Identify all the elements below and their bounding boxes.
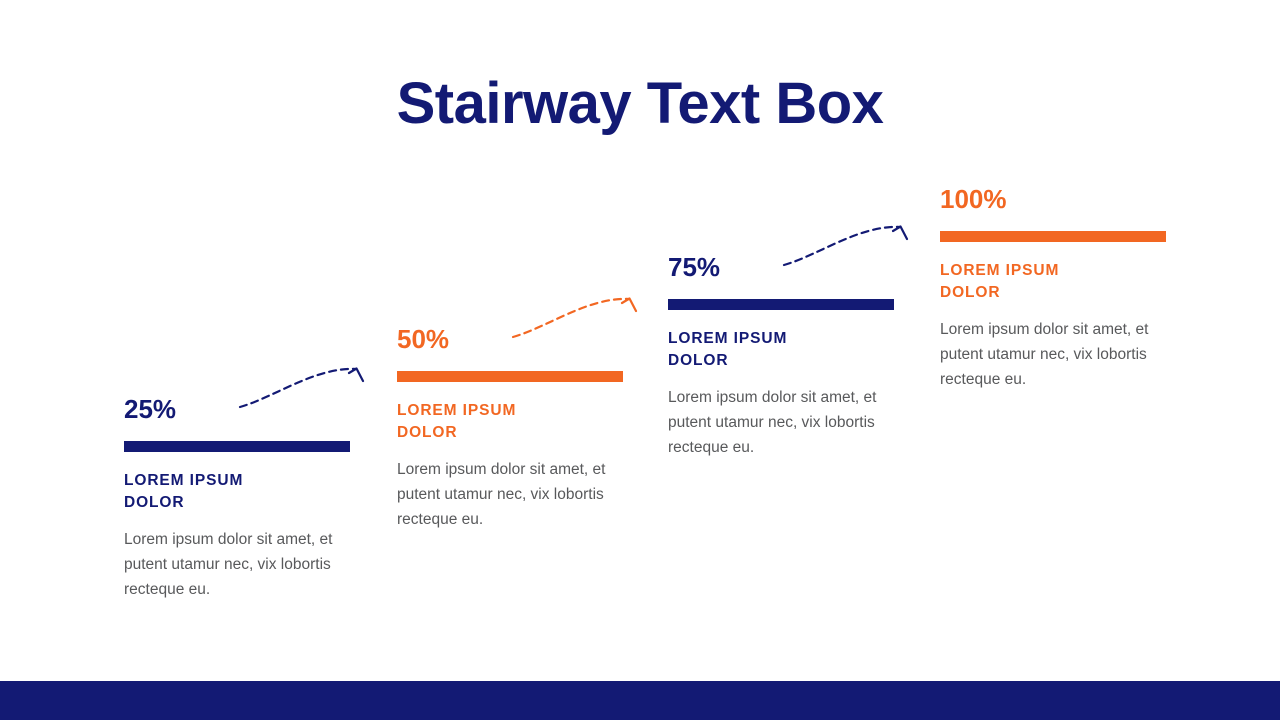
stairway-step-3[interactable]: 75% LOREM IPSUM DOLOR Lorem ipsum dolor … <box>668 254 916 460</box>
step-2-bar <box>397 371 623 382</box>
step-4-percent: 100% <box>940 186 1188 212</box>
step-4-body: Lorem ipsum dolor sit amet, et putent ut… <box>940 317 1186 392</box>
step-3-body: Lorem ipsum dolor sit amet, et putent ut… <box>668 385 914 460</box>
page-title: Stairway Text Box <box>0 74 1280 135</box>
step-2-body: Lorem ipsum dolor sit amet, et putent ut… <box>397 457 643 532</box>
step-1-heading: LOREM IPSUM DOLOR <box>124 470 304 514</box>
step-1-body: Lorem ipsum dolor sit amet, et putent ut… <box>124 527 370 602</box>
step-3-percent: 75% <box>668 254 916 280</box>
step-1-percent: 25% <box>124 396 372 422</box>
step-3-heading: LOREM IPSUM DOLOR <box>668 328 848 372</box>
step-2-heading: LOREM IPSUM DOLOR <box>397 400 577 444</box>
step-4-bar <box>940 231 1166 242</box>
footer-bar <box>0 681 1280 720</box>
step-2-percent: 50% <box>397 326 645 352</box>
step-3-bar <box>668 299 894 310</box>
stairway-step-1[interactable]: 25% LOREM IPSUM DOLOR Lorem ipsum dolor … <box>124 396 372 602</box>
slide-canvas: Stairway Text Box 25% LOREM IPSUM DOLOR … <box>0 0 1280 720</box>
stairway-step-4[interactable]: 100% LOREM IPSUM DOLOR Lorem ipsum dolor… <box>940 186 1188 392</box>
stairway-step-2[interactable]: 50% LOREM IPSUM DOLOR Lorem ipsum dolor … <box>397 326 645 532</box>
step-1-bar <box>124 441 350 452</box>
step-4-heading: LOREM IPSUM DOLOR <box>940 260 1120 304</box>
